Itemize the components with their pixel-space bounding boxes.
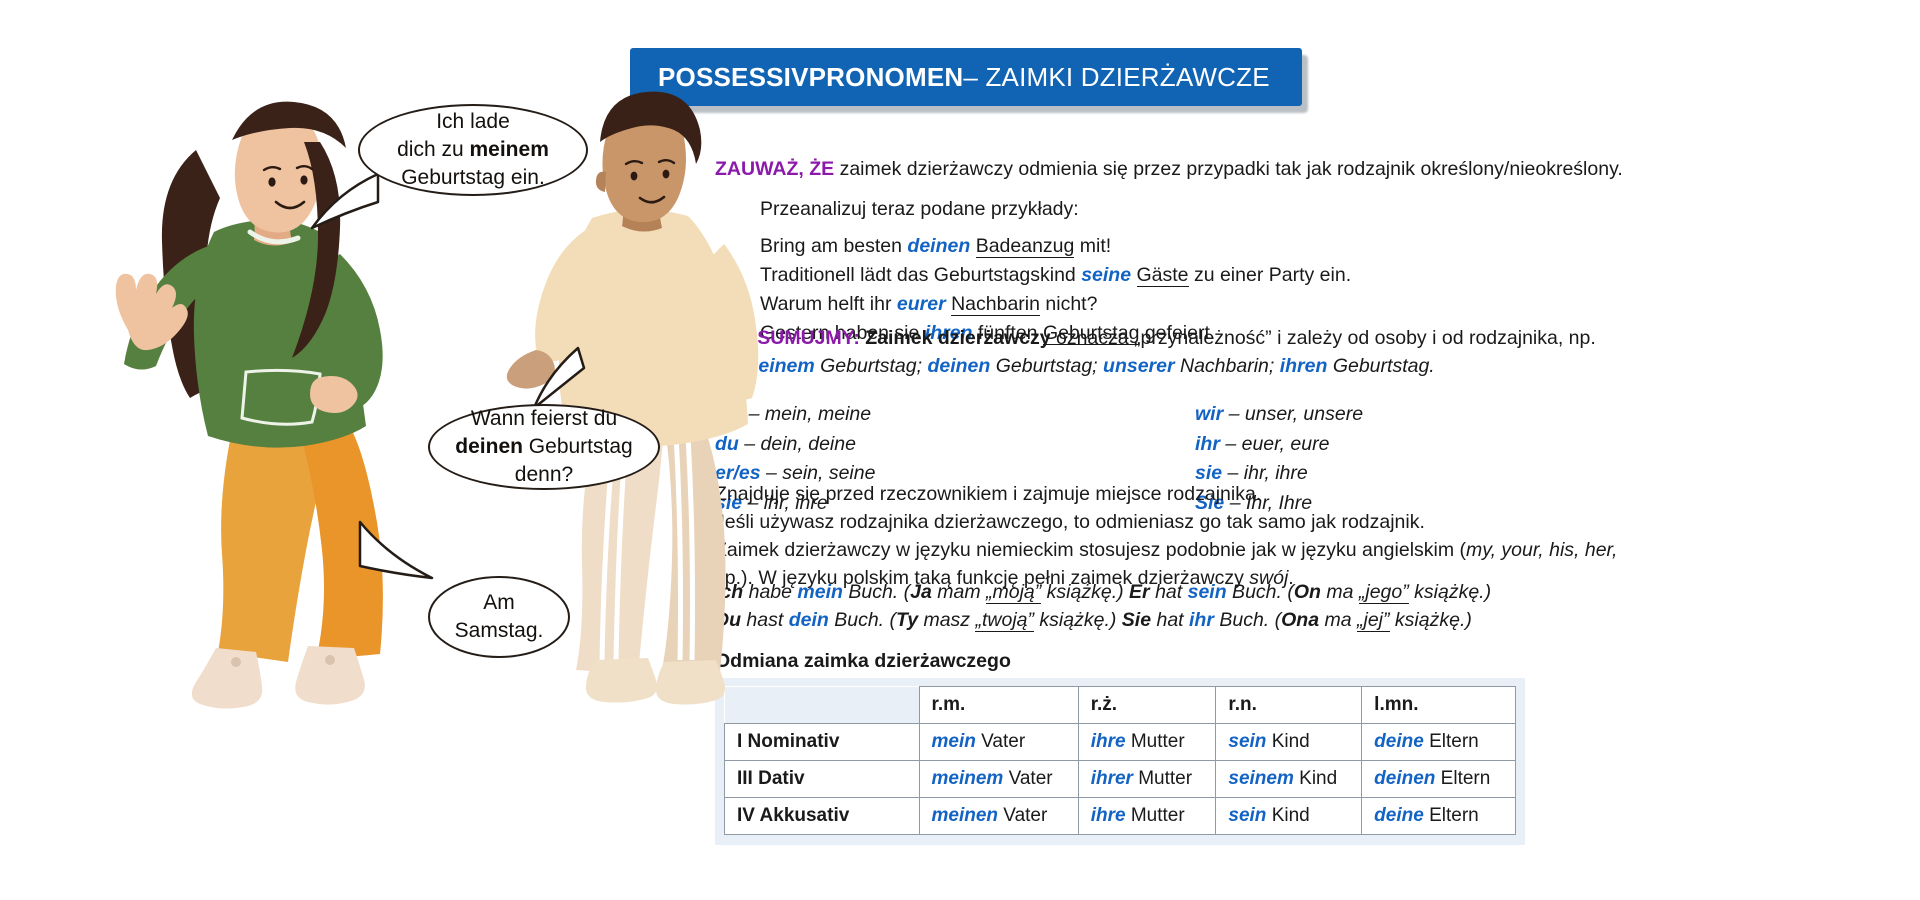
example-noun: Nachbarin <box>951 293 1040 316</box>
bubble-girl-answer: Am Samstag. <box>428 576 570 658</box>
sentence-text: książkę.) <box>1409 581 1491 603</box>
pronoun-forms: euer, eure <box>1242 433 1330 455</box>
bubble-highlight: meinem <box>470 138 549 161</box>
summary-bold: Zaimek dzierżawczy <box>860 327 1051 349</box>
bubble-line: dich zu meinem <box>397 136 549 164</box>
table-header-fem: r.ż. <box>1078 687 1216 724</box>
sentence-text: Buch. ( <box>1214 609 1281 631</box>
summary-pronoun: deinen <box>927 355 990 377</box>
cell-pronoun: deine <box>1374 731 1424 752</box>
rule-line: Jeśli używasz rodzajnika dzierżawczego, … <box>715 508 1865 536</box>
cell-pronoun: ihrer <box>1091 768 1133 789</box>
sentence-text: ma <box>1321 581 1359 603</box>
cell-noun: Vater <box>998 805 1047 826</box>
subject: Er <box>1129 581 1150 603</box>
pronoun-key: wir <box>1195 403 1223 425</box>
cell-pronoun: sein <box>1228 731 1266 752</box>
example-post: nicht? <box>1040 293 1097 315</box>
summary-rest: oznacza „przynależność” i zależy od osob… <box>1051 327 1596 349</box>
example-mid <box>1131 264 1136 286</box>
bubble-girl-invite: Ich lade dich zu meinem Geburtstag ein. <box>358 104 588 196</box>
possessive-pl: „moją” <box>986 581 1041 604</box>
cell-noun: Vater <box>976 731 1025 752</box>
table-header-masc: r.m. <box>919 687 1078 724</box>
sentence-text: ma <box>1319 609 1357 631</box>
example-line: Traditionell lädt das Geburtstagskind se… <box>760 261 1760 290</box>
cell-noun: Mutter <box>1126 731 1185 752</box>
sentence-text: książkę.) <box>1041 581 1129 603</box>
sentence-text: hat <box>1150 581 1188 603</box>
table-cell: ihrer Mutter <box>1078 761 1216 798</box>
cell-pronoun: ihre <box>1091 805 1126 826</box>
table-cell: ihre Mutter <box>1078 724 1216 761</box>
cell-pronoun: seinem <box>1228 768 1293 789</box>
table-cell: meinen Vater <box>919 798 1078 835</box>
rule-line: Zaimek dzierżawczy w języku niemieckim s… <box>715 536 1865 564</box>
table-cell: ihre Mutter <box>1078 798 1216 835</box>
table-cell: deine Eltern <box>1362 798 1516 835</box>
table-cell: sein Kind <box>1216 798 1362 835</box>
subject: Sie <box>1122 609 1151 631</box>
worksheet-page: Ich lade dich zu meinem Geburtstag ein. … <box>0 0 1920 900</box>
table-header-neut: r.n. <box>1216 687 1362 724</box>
summary-line-1: PODSUMUJMY: Zaimek dzierżawczy oznacza „… <box>715 324 1865 352</box>
cell-pronoun: meinen <box>932 805 999 826</box>
bubble-line: deinen Geburtstag <box>455 433 632 461</box>
cell-noun: Mutter <box>1126 805 1185 826</box>
subject-pl: On <box>1294 581 1321 603</box>
notice-text: zaimek dzierżawczy odmienia się przez pr… <box>834 158 1623 180</box>
summary-text: Geburtstag; <box>990 355 1103 377</box>
subject-pl: Ona <box>1281 609 1319 631</box>
example-pronoun: deinen <box>907 235 970 257</box>
notice-paragraph: ZAUWAŻ, ŻE zaimek dzierżawczy odmienia s… <box>715 156 1835 184</box>
bubble-text: Geburtstag <box>523 435 633 458</box>
table-cell: seinem Kind <box>1216 761 1362 798</box>
sentence-text: Buch. ( <box>1227 581 1294 603</box>
table-cell: meinem Vater <box>919 761 1078 798</box>
cell-pronoun: deinen <box>1374 768 1435 789</box>
possessive-pl: „twoją” <box>975 609 1034 632</box>
sentence-text: mam <box>932 581 986 603</box>
summary-pronoun: unserer <box>1103 355 1175 377</box>
table-cell: deine Eltern <box>1362 724 1516 761</box>
content-area: POSSESSIVPRONOMEN – ZAIMKI DZIERŻAWCZE Z… <box>880 0 1920 900</box>
sentence-line: Du hast dein Buch. (Ty masz „twoją” ksią… <box>715 606 1865 634</box>
summary-text: Nachbarin; <box>1175 355 1280 377</box>
example-line: Bring am besten deinen Badeanzug mit! <box>760 232 1760 261</box>
possessive-pl: „jej” <box>1357 609 1390 632</box>
cell-noun: Eltern <box>1424 731 1479 752</box>
bubble-tail-1 <box>300 168 390 238</box>
banner-title-light: – ZAIMKI DZIERŻAWCZE <box>963 62 1269 93</box>
summary-text: Geburtstag. <box>1327 355 1434 377</box>
cell-noun: Kind <box>1294 768 1337 789</box>
rules-paragraph: Znajduje się przed rzeczownikiem i zajmu… <box>715 480 1865 592</box>
bubble-line: denn? <box>515 461 573 489</box>
bubble-line: Samstag. <box>455 617 544 645</box>
example-line: Warum helft ihr eurer Nachbarin nicht? <box>760 290 1760 319</box>
pronoun-forms: unser, unsere <box>1245 403 1363 425</box>
table-cell: mein Vater <box>919 724 1078 761</box>
example-mid <box>970 235 975 257</box>
example-post: zu einer Party ein. <box>1189 264 1352 286</box>
sentence-text: hat <box>1151 609 1189 631</box>
sentence-text: masz <box>918 609 975 631</box>
cell-pronoun: mein <box>932 731 976 752</box>
subject-pl: Ty <box>896 609 918 631</box>
pronoun-row: ihr – euer, eure <box>1195 430 1363 460</box>
pronoun-sep: – <box>1223 403 1245 425</box>
summary-paragraph: PODSUMUJMY: Zaimek dzierżawczy oznacza „… <box>715 324 1865 381</box>
table-cell: sein Kind <box>1216 724 1362 761</box>
bubble-boy-question: Wann feierst du deinen Geburtstag denn? <box>428 404 660 490</box>
bubble-highlight: deinen <box>455 435 523 458</box>
rule-line: Znajduje się przed rzeczownikiem i zajmu… <box>715 480 1865 508</box>
bubble-line: Wann feierst du <box>471 405 617 433</box>
bubble-tail-3 <box>352 518 462 598</box>
table-header-plural: l.mn. <box>1362 687 1516 724</box>
table-cell: deinen Eltern <box>1362 761 1516 798</box>
rule-italic: my, your, his, her, <box>1466 539 1617 561</box>
sentence-text: książkę.) <box>1390 609 1472 631</box>
example-noun: Badeanzug <box>976 235 1075 258</box>
pronoun-sep: – <box>1220 433 1242 455</box>
cell-noun: Eltern <box>1435 768 1490 789</box>
sentence-line: Ich habe mein Buch. (Ja mam „moją” książ… <box>715 578 1865 606</box>
cell-pronoun: sein <box>1228 805 1266 826</box>
cell-pronoun: ihre <box>1091 731 1126 752</box>
cell-noun: Vater <box>1003 768 1052 789</box>
sentence-text: książkę.) <box>1034 609 1122 631</box>
bubble-line: Am <box>483 589 515 617</box>
cell-noun: Mutter <box>1133 768 1192 789</box>
cell-pronoun: meinem <box>932 768 1004 789</box>
bubble-text: dich zu <box>397 138 469 161</box>
possessive: ihr <box>1189 609 1214 631</box>
summary-line-2: zu meinem Geburtstag; deinen Geburtstag;… <box>715 352 1865 380</box>
cell-noun: Kind <box>1266 731 1309 752</box>
possessive-pl: „jego” <box>1359 581 1409 604</box>
bubble-line: Geburtstag ein. <box>401 164 545 192</box>
example-sentences: Ich habe mein Buch. (Ja mam „moją” książ… <box>715 578 1865 635</box>
example-noun: Gäste <box>1137 264 1189 287</box>
subject-pl: Ja <box>910 581 932 603</box>
analyze-prompt: Przeanalizuj teraz podane przykłady: <box>760 196 1660 224</box>
cell-noun: Eltern <box>1424 805 1479 826</box>
bubble-line: Ich lade <box>436 108 510 136</box>
example-pronoun: seine <box>1081 264 1131 286</box>
pronoun-row: wir – unser, unsere <box>1195 400 1363 430</box>
example-pronoun: eurer <box>897 293 946 315</box>
possessive: sein <box>1188 581 1227 603</box>
summary-pronoun: ihren <box>1280 355 1328 377</box>
illustration-area: Ich lade dich zu meinem Geburtstag ein. … <box>0 0 880 900</box>
example-post: mit! <box>1074 235 1111 257</box>
cell-pronoun: deine <box>1374 805 1424 826</box>
cell-noun: Kind <box>1266 805 1309 826</box>
pronoun-key: ihr <box>1195 433 1220 455</box>
